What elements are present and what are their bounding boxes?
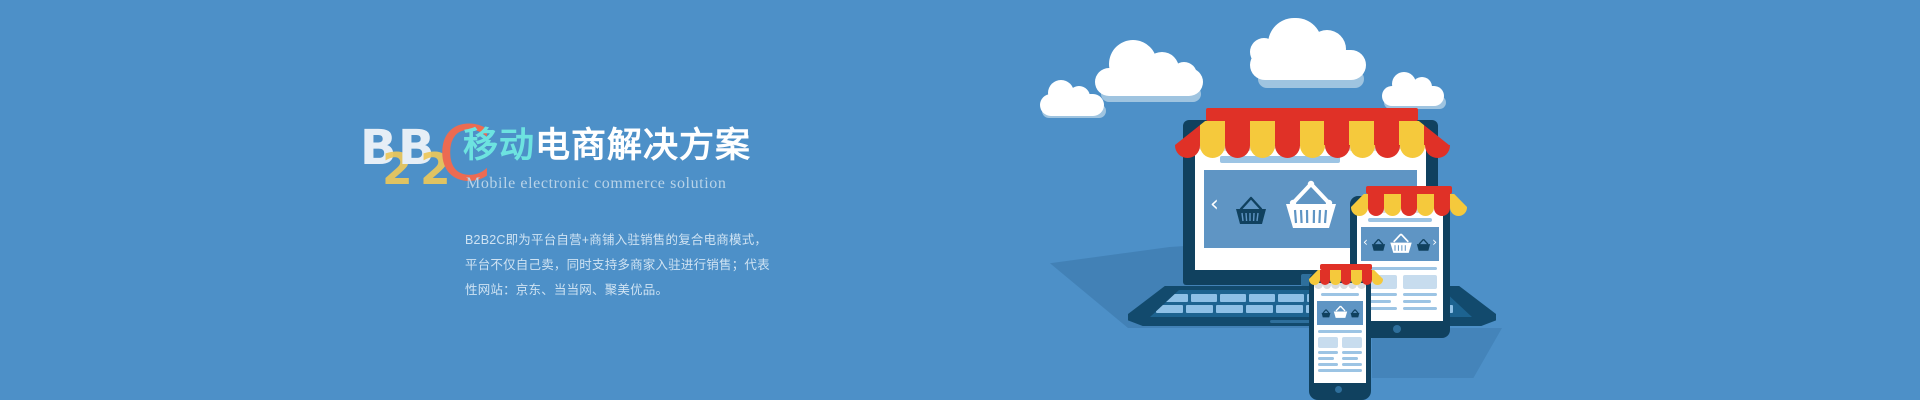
carousel-next-arrow[interactable]: › bbox=[1432, 235, 1437, 249]
headline-highlight: 移动 bbox=[463, 126, 535, 165]
phone-text-line bbox=[1318, 357, 1334, 360]
shopping-basket-icon bbox=[1321, 309, 1331, 318]
phone-home-button[interactable] bbox=[1335, 386, 1342, 393]
phone-text-line bbox=[1342, 351, 1362, 354]
shopping-basket-icon bbox=[1234, 196, 1268, 226]
tablet-text-line bbox=[1403, 307, 1437, 310]
page-title: 移动电商解决方案 bbox=[463, 128, 751, 163]
shopping-basket-icon bbox=[1416, 238, 1431, 252]
phone-search-bar bbox=[1321, 293, 1359, 296]
phone-card-right bbox=[1342, 337, 1362, 348]
tablet-awning-stripes bbox=[1351, 194, 1467, 207]
tablet-search-bar bbox=[1368, 218, 1432, 222]
carousel-prev-arrow[interactable]: ‹ bbox=[1363, 235, 1368, 249]
phone-text-line bbox=[1318, 351, 1338, 354]
carousel-prev-arrow[interactable]: ‹ bbox=[1210, 192, 1219, 217]
tablet-text-line bbox=[1403, 300, 1431, 303]
phone-text-line bbox=[1342, 357, 1358, 360]
text-block: B 2 B 2 C 移动电商解决方案 Mobile electronic com… bbox=[360, 120, 1060, 192]
shopping-basket-icon bbox=[1371, 238, 1386, 252]
laptop-awning-top-bar bbox=[1206, 108, 1418, 121]
ecommerce-illustration: ‹ › bbox=[1020, 0, 1920, 400]
phone-screen bbox=[1314, 283, 1366, 383]
shopping-basket-icon bbox=[1350, 309, 1360, 318]
phone-text-line bbox=[1342, 363, 1362, 366]
shopping-basket-icon bbox=[1389, 232, 1413, 255]
phone-card-left bbox=[1318, 337, 1338, 348]
headline-rest: 电商解决方案 bbox=[535, 126, 751, 165]
phone-text-line bbox=[1318, 369, 1362, 372]
phone-awning-stripes bbox=[1309, 270, 1383, 279]
tablet-text-line bbox=[1403, 293, 1437, 296]
phone-hero-carousel bbox=[1317, 301, 1363, 325]
shopping-basket-icon bbox=[1283, 180, 1339, 232]
laptop-awning-stripes bbox=[1175, 121, 1449, 145]
page-subtitle: Mobile electronic commerce solution bbox=[466, 175, 726, 193]
phone-awning-scallops bbox=[1309, 279, 1383, 285]
laptop-awning-scallops bbox=[1175, 145, 1450, 158]
phone-awning-top-bar bbox=[1320, 264, 1372, 270]
phone-content-line bbox=[1318, 330, 1362, 333]
tablet-hero-carousel: ‹ › bbox=[1361, 227, 1439, 261]
logo-headline-row: B 2 B 2 C 移动电商解决方案 Mobile electronic com… bbox=[360, 120, 1060, 192]
description-paragraph: B2B2C即为平台自营+商铺入驻销售的复合电商模式，平台不仅自己卖，同时支持多商… bbox=[465, 228, 775, 303]
tablet-awning-scallops bbox=[1351, 207, 1467, 216]
promo-banner: B 2 B 2 C 移动电商解决方案 Mobile electronic com… bbox=[0, 0, 1920, 400]
shopping-basket-icon bbox=[1333, 305, 1348, 319]
tablet-card-right bbox=[1403, 275, 1437, 289]
tablet-awning-top-bar bbox=[1366, 186, 1452, 194]
tablet-home-button[interactable] bbox=[1393, 325, 1401, 333]
tablet-content-line bbox=[1363, 267, 1437, 270]
phone-text-line bbox=[1318, 363, 1338, 366]
